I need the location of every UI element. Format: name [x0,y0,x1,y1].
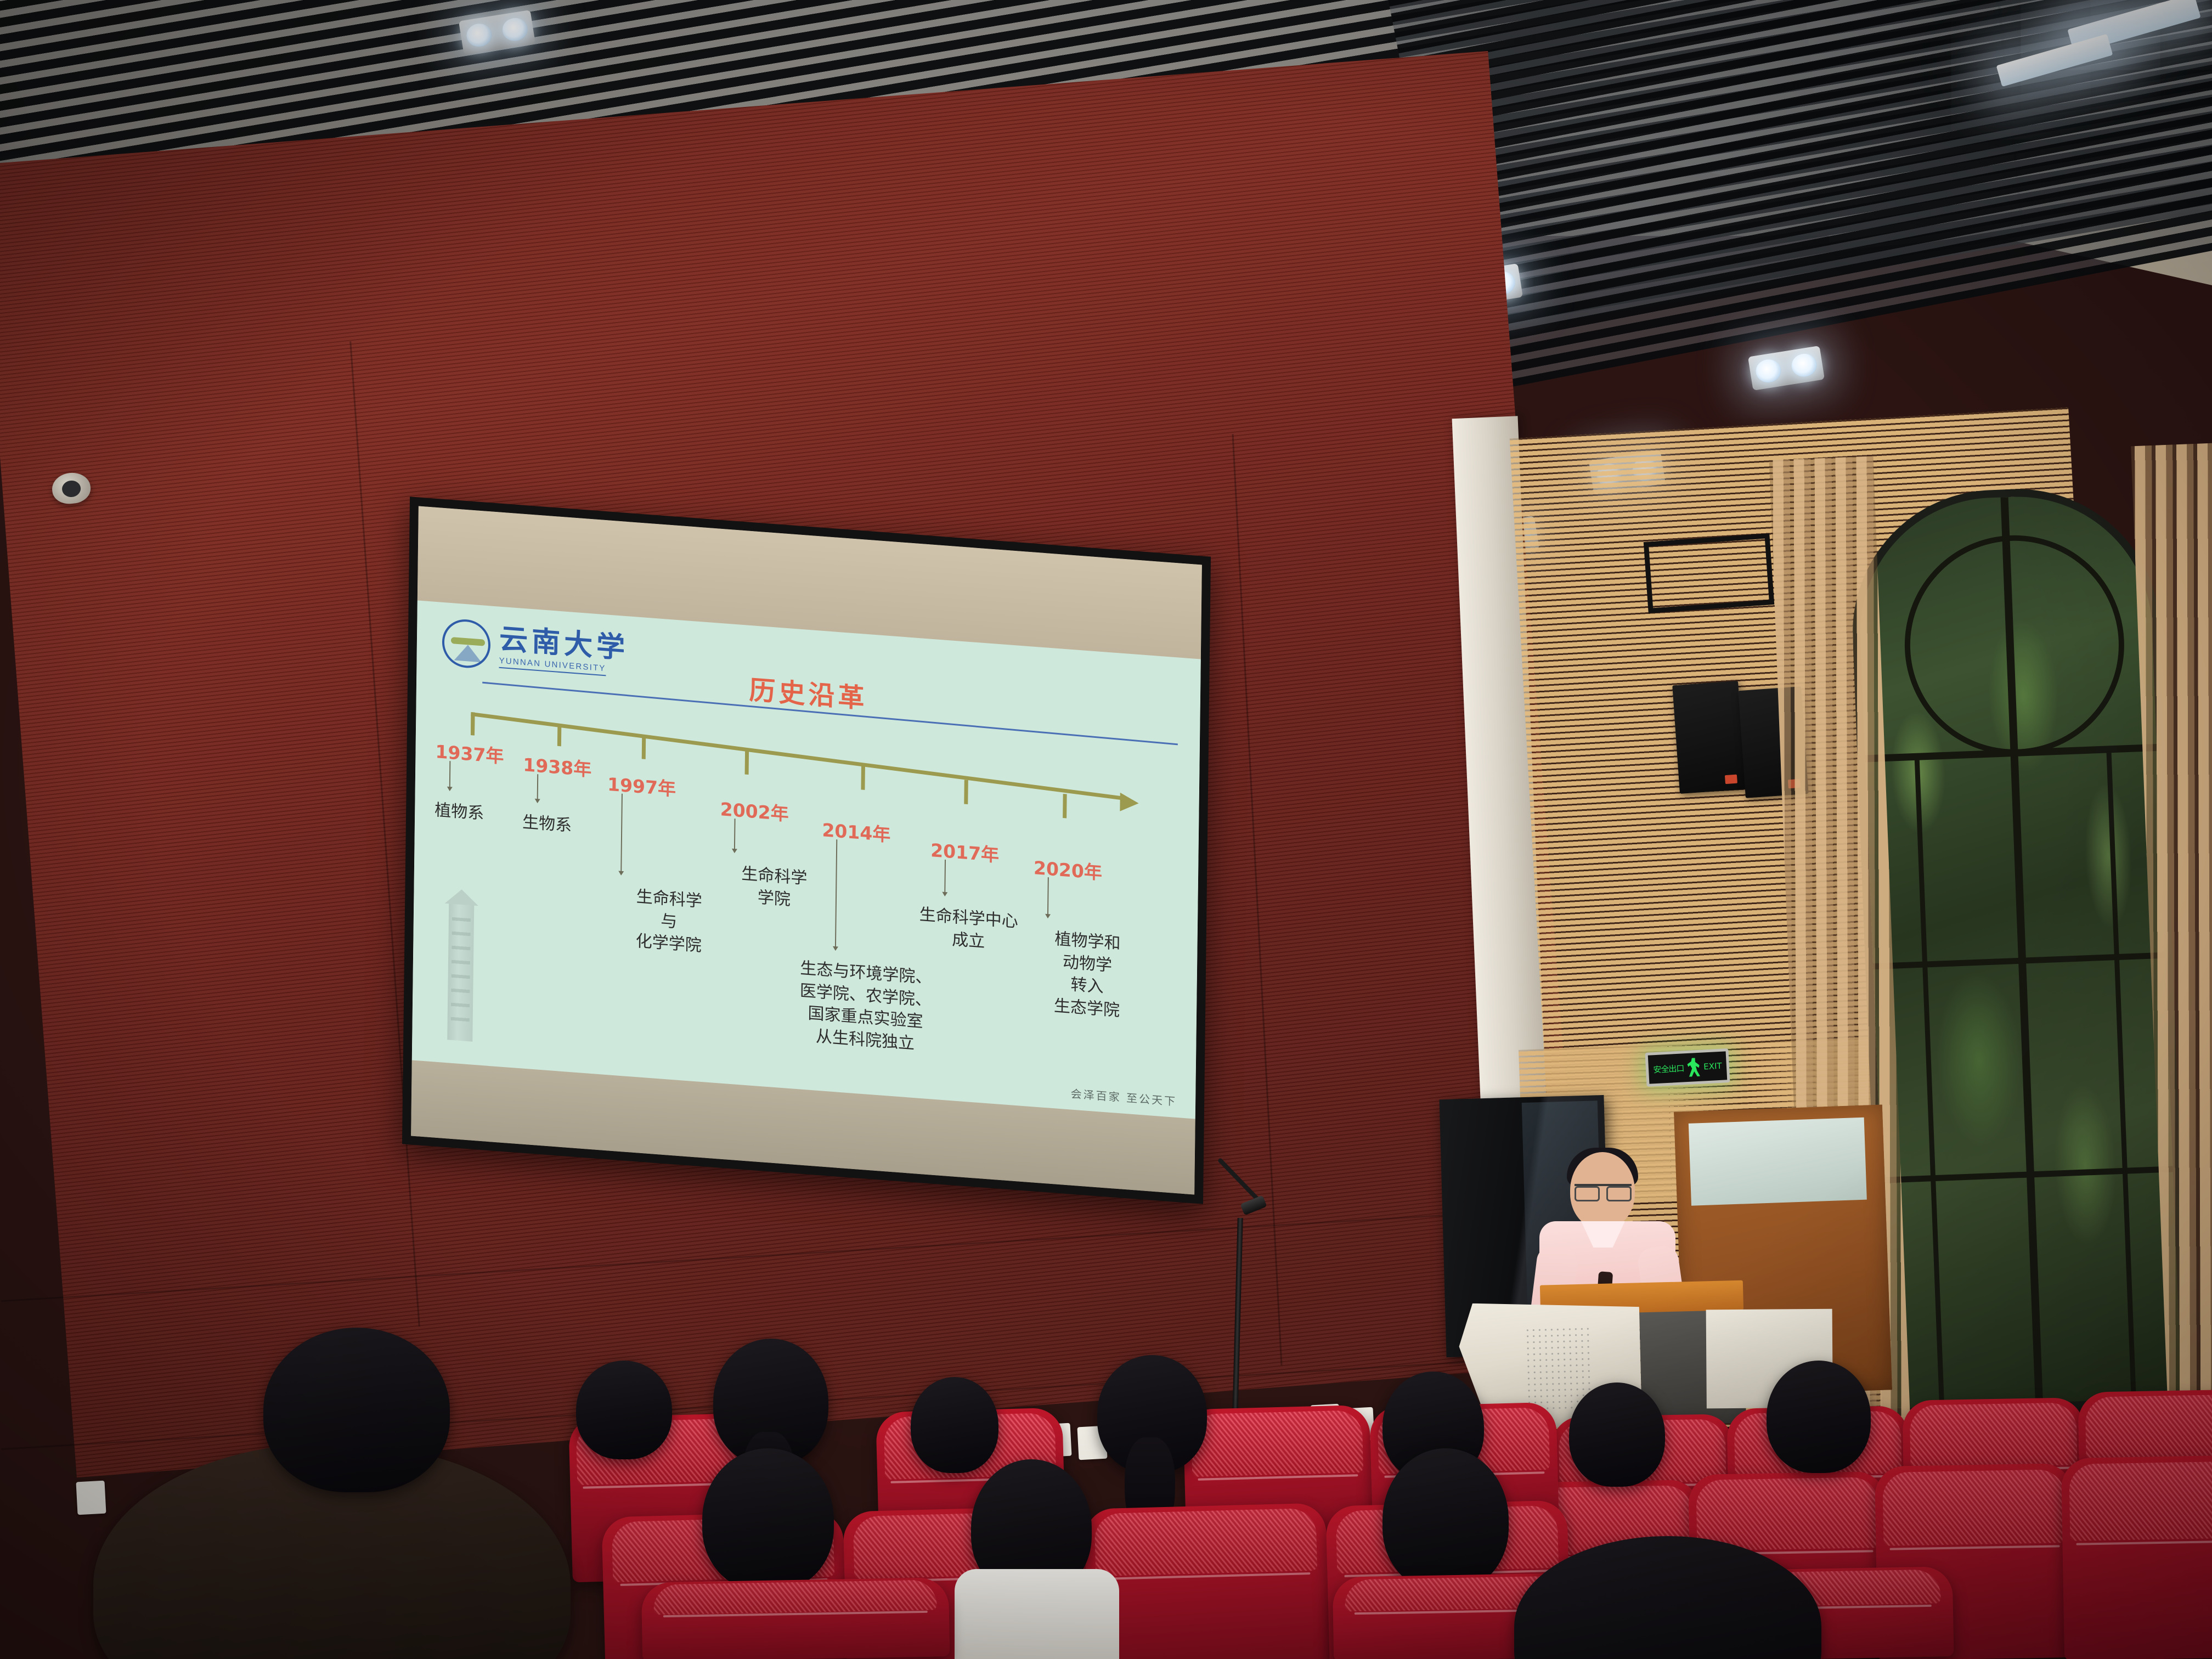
timeline-year: 1938年 [523,750,591,781]
timeline-year: 2020年 [1034,853,1144,888]
timeline-tick [471,713,475,736]
running-man-icon [1686,1058,1701,1077]
wall-light-switch[interactable] [76,1481,106,1515]
timeline-tick [1063,794,1067,819]
timeline-connector [620,794,623,872]
lecture-hall-photo: 云南大学 YUNNAN UNIVERSITY 历史沿革 [0,0,2212,1659]
timeline-year: 1937年 [435,737,504,768]
timeline-connector [537,774,539,799]
timeline-year: 2002年 [720,794,831,829]
emergency-exit-sign: 安全出口 EXIT [1645,1048,1730,1087]
lectern-control-panel[interactable] [1525,1326,1593,1410]
glasses-icon [1575,1184,1632,1196]
timeline-tick [745,749,749,775]
timeline-tick [642,736,646,760]
timeline-event-label: 植物学和 动物学 转入 生态学院 [1032,927,1143,1024]
exit-sign-label-cn: 安全出口 [1653,1062,1684,1075]
exit-sign-label-en: EXIT [1703,1061,1722,1072]
ceiling-downlight [1748,346,1825,391]
timeline-event-label: 生物系 [522,811,591,839]
timeline-event-1997: 1997年 生命科学 与 化学学院 [605,770,733,960]
speaker-mount-bracket [1644,533,1775,613]
audience-person-head-foreground [263,1328,450,1492]
timeline-event-2017: 2017年 生命科学中心 成立 [929,836,1043,957]
timeline-event-label: 生命科学 学院 [719,861,830,914]
timeline-year: 2017年 [930,836,1044,870]
screen-surface: 云南大学 YUNNAN UNIVERSITY 历史沿革 [411,506,1202,1194]
timeline-event-label: 生态与环境学院、 医学院、农学院、 国家重点实验室 从生科院独立 [775,956,957,1058]
audience-person-head [1569,1383,1665,1487]
auditorium-seat[interactable] [2061,1455,2212,1659]
university-motto: 会泽百家 至公天下 [1071,1085,1177,1109]
timeline-event-2002: 2002年 生命科学 学院 [719,794,830,914]
timeline-tick [964,780,968,805]
auditorium-seat[interactable] [1084,1503,1330,1659]
timeline-connector [734,819,736,849]
timeline-connector [835,839,837,947]
timeline-tick [861,766,865,791]
audience-shoulder [955,1569,1119,1659]
presentation-slide: 云南大学 YUNNAN UNIVERSITY 历史沿革 [412,601,1201,1119]
timeline-connector [1047,877,1049,915]
timeline-event-1938: 1938年 生物系 [522,750,592,839]
timeline-event-1937: 1937年 植物系 [435,737,504,827]
campus-tower-watermark [443,886,481,1053]
timeline-connector [944,860,946,893]
timeline-year: 1997年 [607,770,734,805]
audience-person-head [702,1448,834,1591]
arched-window [1847,482,2212,1438]
door-window-lite [1689,1118,1867,1206]
timeline-event-label: 生命科学 与 化学学院 [605,884,732,960]
slide-title: 历史沿革 [416,644,1200,741]
timeline-event-2020: 2020年 植物学和 动物学 转入 生态学院 [1032,853,1144,1024]
auditorium-seat[interactable] [641,1577,950,1659]
audience-person-head [576,1361,672,1459]
timeline-tick [557,724,561,747]
speaker-brand-badge [1725,775,1737,784]
timeline-arrowhead [1120,793,1138,813]
audience-person-head [1767,1361,1871,1473]
projection-screen: 云南大学 YUNNAN UNIVERSITY 历史沿革 [402,496,1211,1204]
timeline-connector [449,761,451,787]
timeline-event-label: 植物系 [435,799,503,827]
audience-person-head [911,1377,998,1473]
audience-person-head [1383,1448,1509,1591]
pa-speaker [1672,681,1746,794]
